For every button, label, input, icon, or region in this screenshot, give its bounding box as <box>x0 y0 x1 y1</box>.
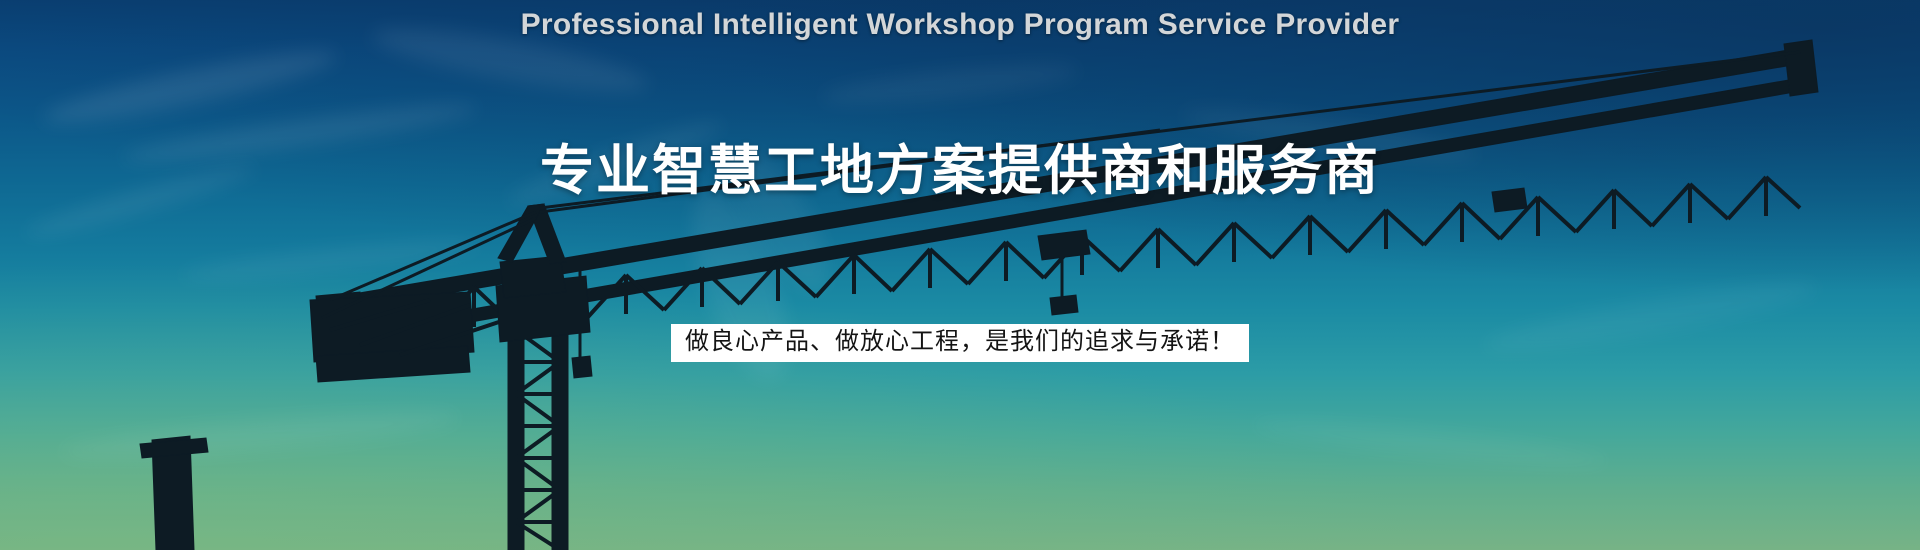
hero-banner: Professional Intelligent Workshop Progra… <box>0 0 1920 550</box>
tower-crane-silhouette-icon <box>0 0 1920 550</box>
banner-tagline-english: Professional Intelligent Workshop Progra… <box>0 8 1920 42</box>
banner-headline-chinese: 专业智慧工地方案提供商和服务商 <box>0 126 1920 205</box>
banner-slogan-chinese: 做良心产品、做放心工程，是我们的追求与承诺！ <box>671 324 1249 362</box>
banner-slogan-container: 做良心产品、做放心工程，是我们的追求与承诺！ <box>0 324 1920 362</box>
